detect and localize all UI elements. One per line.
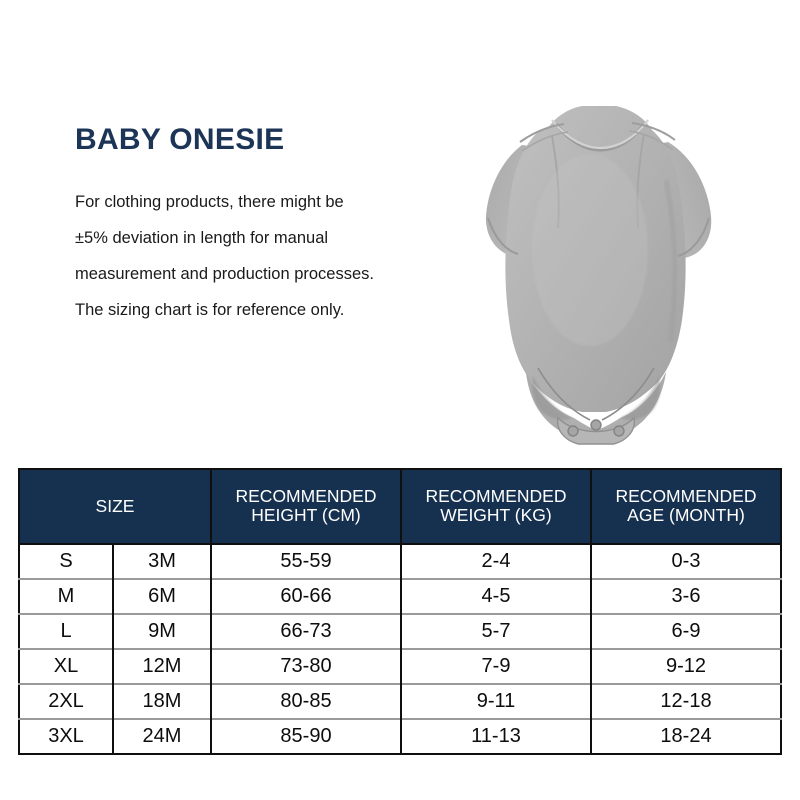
cell-height: 73-80: [211, 649, 401, 684]
cell-weight: 5-7: [401, 614, 591, 649]
snap-button-1: [568, 426, 578, 436]
cell-height: 55-59: [211, 544, 401, 579]
cell-size-month: 18M: [113, 684, 211, 719]
cell-size-code: 2XL: [19, 684, 113, 719]
size-chart-table: SIZE RECOMMENDED HEIGHT (CM) RECOMMENDED…: [18, 468, 782, 755]
cell-height: 60-66: [211, 579, 401, 614]
description-paragraph: For clothing products, there might be ±5…: [75, 184, 445, 328]
table-row: XL12M73-807-99-12: [19, 649, 781, 684]
cell-size-month: 24M: [113, 719, 211, 754]
cell-size-month: 12M: [113, 649, 211, 684]
header-age-line2: AGE (MONTH): [627, 505, 745, 525]
cell-size-month: 9M: [113, 614, 211, 649]
info-block: BABY ONESIE For clothing products, there…: [75, 124, 445, 328]
table-row: S3M55-592-40-3: [19, 544, 781, 579]
cell-height: 66-73: [211, 614, 401, 649]
header-height: RECOMMENDED HEIGHT (CM): [211, 469, 401, 544]
table-row: 2XL18M80-859-1112-18: [19, 684, 781, 719]
description-line-3: measurement and production processes.: [75, 265, 374, 283]
cell-weight: 11-13: [401, 719, 591, 754]
cell-weight: 4-5: [401, 579, 591, 614]
cell-weight: 2-4: [401, 544, 591, 579]
description-line-1: For clothing products, there might be: [75, 193, 344, 211]
cell-size-month: 6M: [113, 579, 211, 614]
cell-height: 85-90: [211, 719, 401, 754]
description-line-2: ±5% deviation in length for manual: [75, 229, 328, 247]
onesie-illustration: [430, 20, 760, 450]
snap-button-3: [614, 426, 624, 436]
table-row: M6M60-664-53-6: [19, 579, 781, 614]
header-age: RECOMMENDED AGE (MONTH): [591, 469, 781, 544]
cell-age: 12-18: [591, 684, 781, 719]
header-weight-line2: WEIGHT (KG): [440, 505, 551, 525]
header-age-line1: RECOMMENDED: [616, 486, 757, 506]
cell-size-code: L: [19, 614, 113, 649]
cell-size-code: XL: [19, 649, 113, 684]
cell-age: 0-3: [591, 544, 781, 579]
cell-size-code: S: [19, 544, 113, 579]
header-height-line1: RECOMMENDED: [236, 486, 377, 506]
cell-size-month: 3M: [113, 544, 211, 579]
table-header: SIZE RECOMMENDED HEIGHT (CM) RECOMMENDED…: [19, 469, 781, 544]
cell-weight: 7-9: [401, 649, 591, 684]
cell-weight: 9-11: [401, 684, 591, 719]
header-height-line2: HEIGHT (CM): [251, 505, 361, 525]
table-row: L9M66-735-76-9: [19, 614, 781, 649]
cell-age: 3-6: [591, 579, 781, 614]
header-weight: RECOMMENDED WEIGHT (KG): [401, 469, 591, 544]
table-body: S3M55-592-40-3M6M60-664-53-6L9M66-735-76…: [19, 544, 781, 754]
cell-age: 6-9: [591, 614, 781, 649]
header-size: SIZE: [19, 469, 211, 544]
cell-age: 18-24: [591, 719, 781, 754]
table-header-row: SIZE RECOMMENDED HEIGHT (CM) RECOMMENDED…: [19, 469, 781, 544]
description-line-4: The sizing chart is for reference only.: [75, 301, 344, 319]
body-highlight: [532, 154, 648, 346]
table-row: 3XL24M85-9011-1318-24: [19, 719, 781, 754]
cell-size-code: M: [19, 579, 113, 614]
page-title: BABY ONESIE: [75, 124, 445, 156]
cell-size-code: 3XL: [19, 719, 113, 754]
snap-button-2: [591, 420, 601, 430]
product-image: [430, 20, 760, 450]
cell-age: 9-12: [591, 649, 781, 684]
cell-height: 80-85: [211, 684, 401, 719]
header-weight-line1: RECOMMENDED: [426, 486, 567, 506]
